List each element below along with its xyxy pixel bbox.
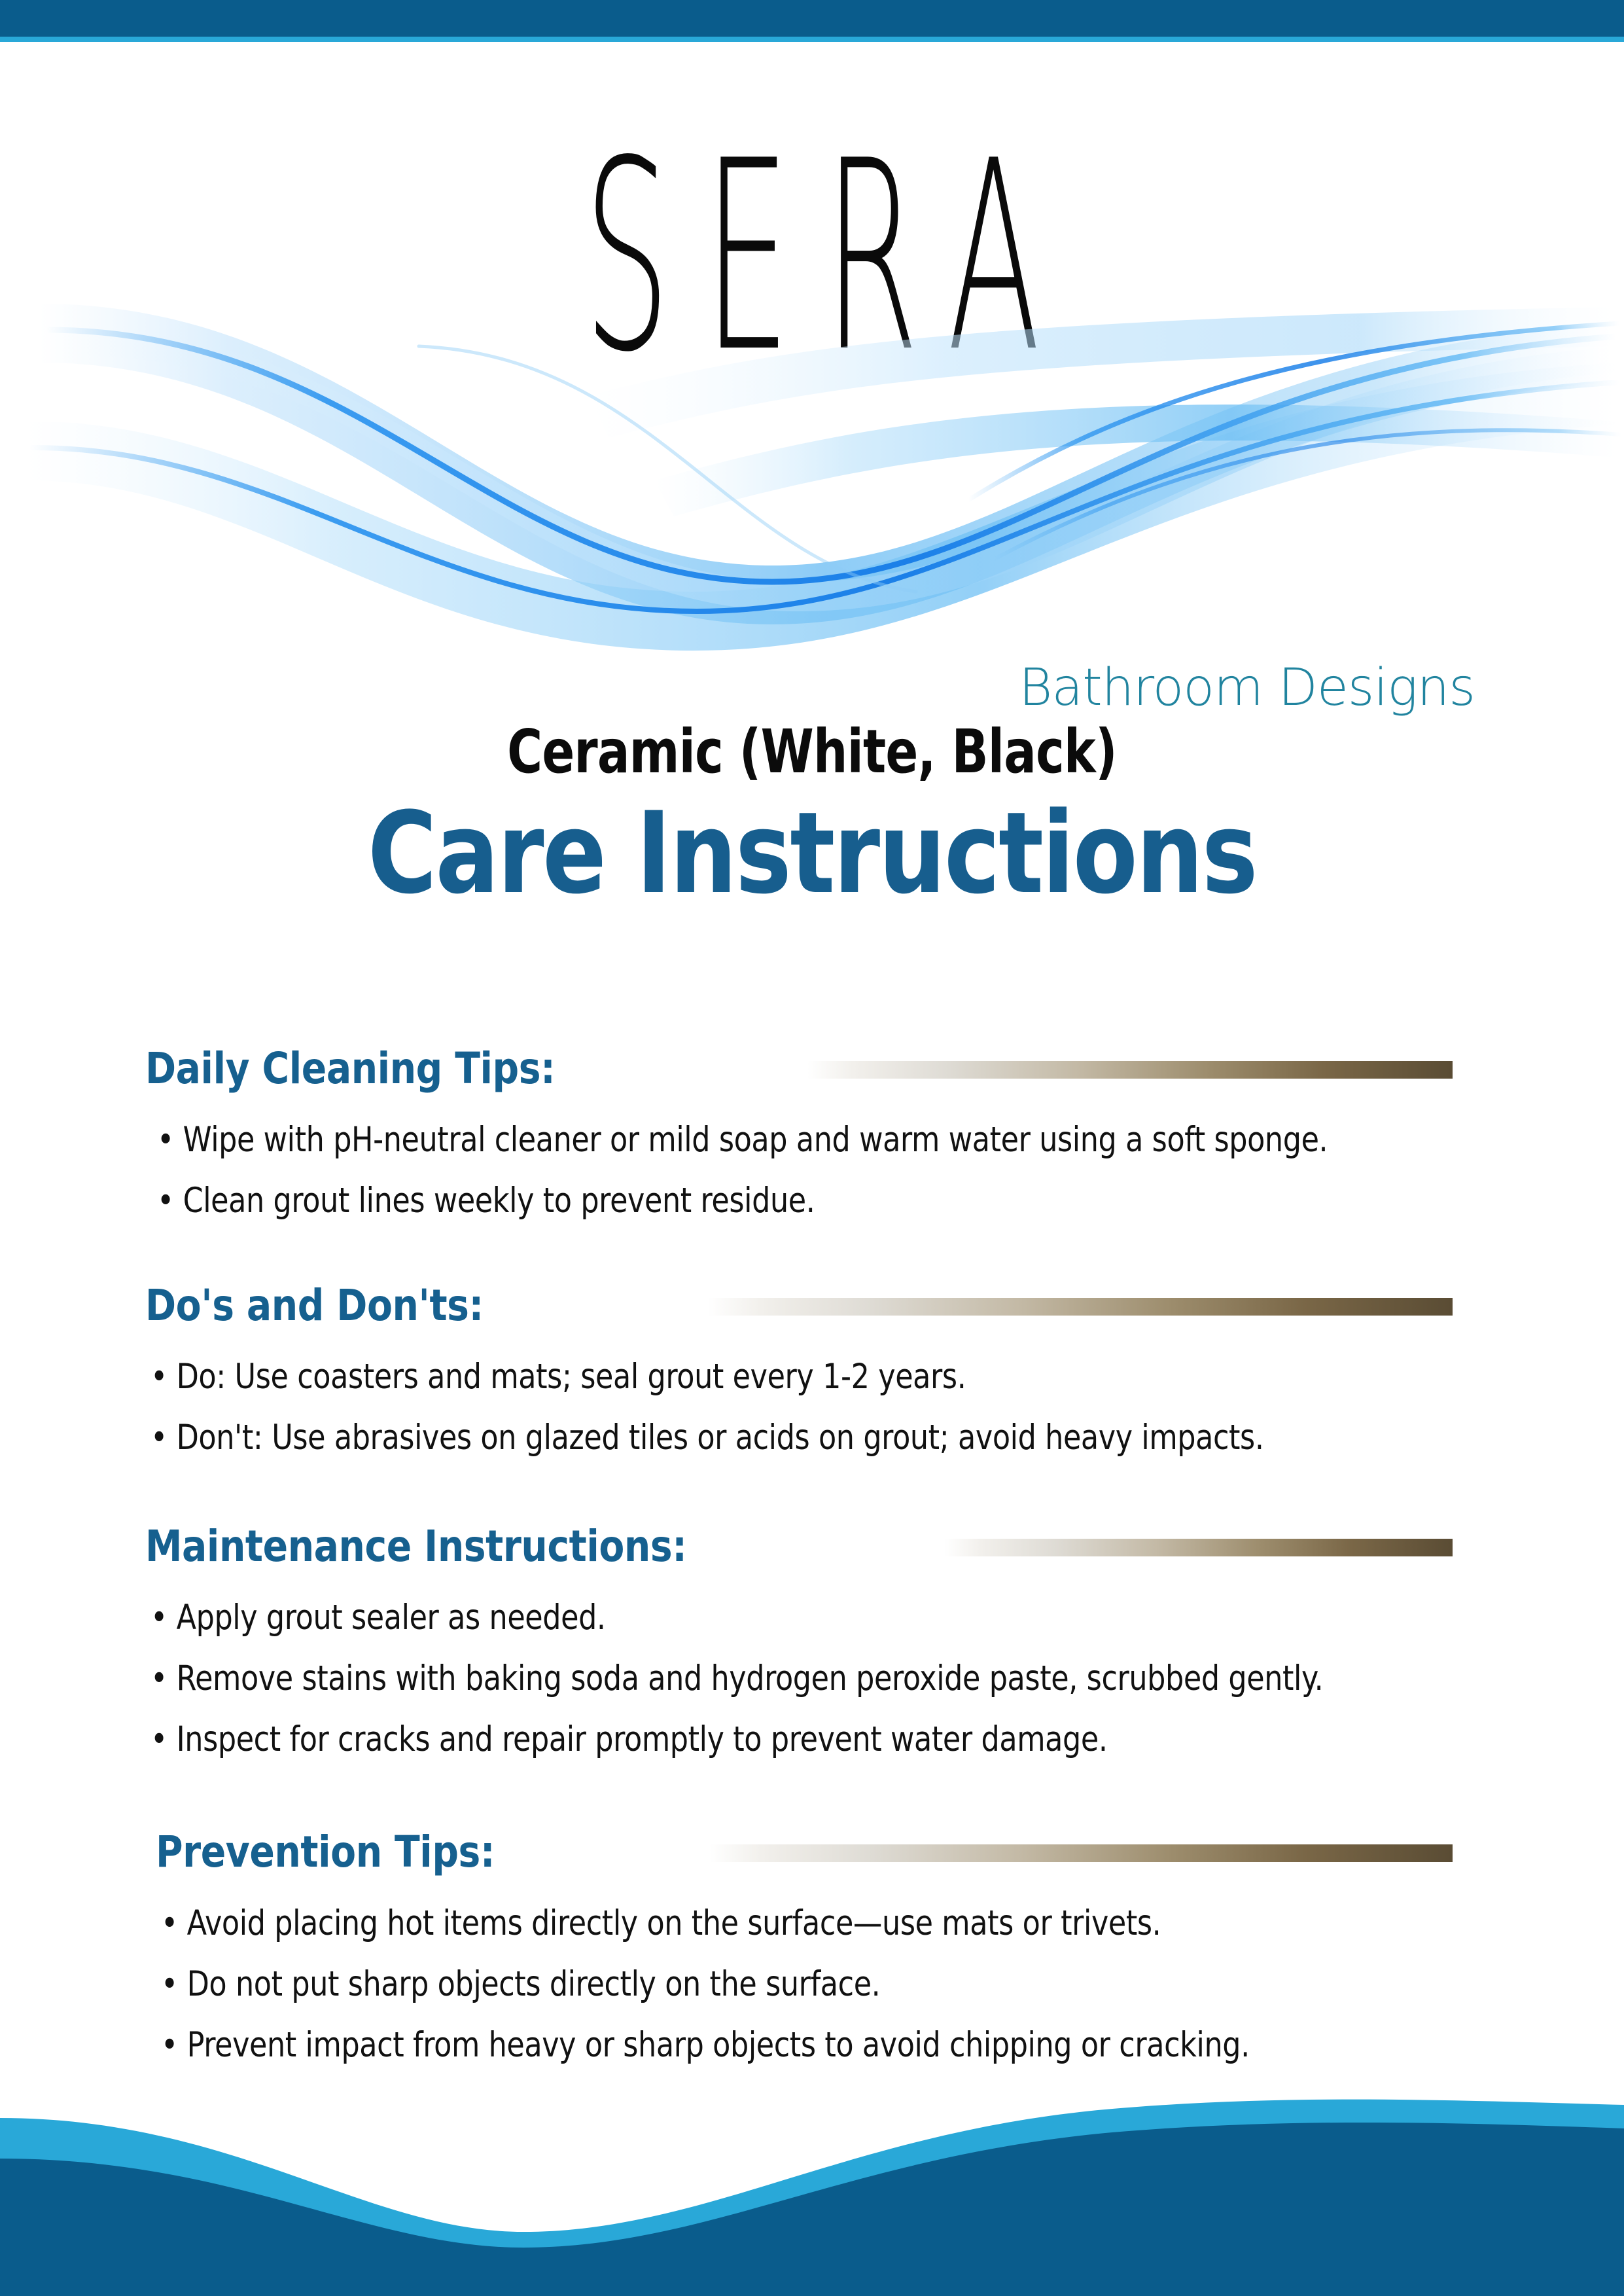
section-header: Do's and Don'ts: — [145, 1274, 1624, 1337]
section-heading: Prevention Tips: — [156, 1831, 495, 1874]
bullet-list: • Avoid placing hot items directly on th… — [156, 1893, 1624, 2075]
top-brand-bar — [0, 0, 1624, 42]
care-instructions-poster: SERA — [0, 0, 1624, 2296]
list-item: • Do not put sharp objects directly on t… — [161, 1954, 1390, 2015]
section-divider-bar — [708, 1298, 1453, 1316]
section-header: Daily Cleaning Tips: — [145, 1037, 1624, 1100]
list-item: • Remove stains with baking soda and hyd… — [150, 1648, 1388, 1709]
top-bar-accent-stripe — [0, 37, 1624, 42]
title-block: Ceramic (White, Black) Care Instructions — [0, 720, 1624, 910]
page-title: Care Instructions — [130, 796, 1494, 910]
section-heading: Maintenance Instructions: — [145, 1525, 687, 1568]
bullet-list: • Apply grout sealer as needed. • Remove… — [145, 1587, 1624, 1770]
footer-wave-graphic — [0, 2060, 1624, 2296]
list-item: • Do: Use coasters and mats; seal grout … — [150, 1346, 1388, 1407]
subject-title: Ceramic (White, Black) — [162, 720, 1462, 784]
section-divider-bar — [945, 1539, 1453, 1556]
section-heading: Do's and Don'ts: — [145, 1284, 484, 1327]
logo-header: SERA — [0, 42, 1624, 709]
section-daily-cleaning-tips: Daily Cleaning Tips: • Wipe with pH-neut… — [0, 1037, 1624, 1231]
footer-wave-primary — [0, 2123, 1624, 2296]
list-item: • Inspect for cracks and repair promptly… — [150, 1709, 1388, 1770]
list-item: • Avoid placing hot items directly on th… — [161, 1893, 1390, 1954]
section-heading: Daily Cleaning Tips: — [145, 1047, 555, 1090]
section-dos-and-donts: Do's and Don'ts: • Do: Use coasters and … — [0, 1274, 1624, 1468]
list-item: • Clean grout lines weekly to prevent re… — [157, 1170, 1389, 1231]
top-bar-primary — [0, 0, 1624, 37]
section-header: Prevention Tips: — [156, 1821, 1624, 1884]
section-header: Maintenance Instructions: — [145, 1515, 1624, 1578]
bullet-list: • Do: Use coasters and mats; seal grout … — [145, 1346, 1624, 1468]
brand-tagline: Bathroom Designs — [0, 662, 1624, 713]
instruction-sections: Daily Cleaning Tips: • Wipe with pH-neut… — [0, 1037, 1624, 2075]
section-divider-bar — [709, 1844, 1453, 1862]
flowing-wave-graphic — [0, 284, 1624, 651]
section-prevention-tips: Prevention Tips: • Avoid placing hot ite… — [0, 1821, 1624, 2075]
list-item: • Wipe with pH-neutral cleaner or mild s… — [157, 1109, 1389, 1170]
list-item: • Don't: Use abrasives on glazed tiles o… — [150, 1407, 1388, 1468]
section-divider-bar — [807, 1061, 1453, 1079]
section-maintenance-instructions: Maintenance Instructions: • Apply grout … — [0, 1515, 1624, 1770]
list-item: • Apply grout sealer as needed. — [150, 1587, 1388, 1648]
bullet-list: • Wipe with pH-neutral cleaner or mild s… — [145, 1109, 1624, 1231]
